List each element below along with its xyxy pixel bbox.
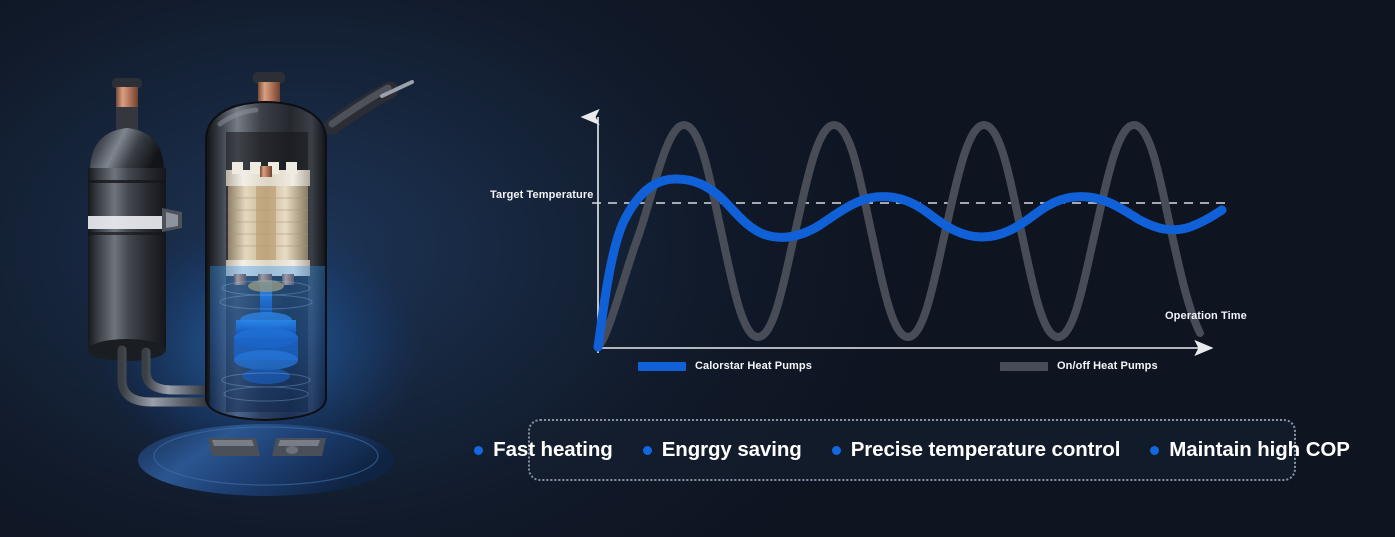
legend-swatch-calorstar — [638, 362, 686, 371]
accumulator-body — [88, 168, 166, 350]
compressor-illustration — [60, 20, 480, 510]
chart-legend: Calorstar Heat Pumps On/off Heat Pumps — [638, 360, 1238, 384]
accumulator-band-top — [88, 180, 166, 183]
feature-item-fast-heating: Fast heating — [474, 438, 613, 462]
feature-item-energy-saving: Engrgy saving — [643, 438, 802, 462]
accumulator-dome — [90, 128, 164, 172]
promo-banner: Target Temperature Operation Time Calors… — [0, 0, 1395, 537]
performance-chart: Target Temperature Operation Time — [470, 95, 1270, 395]
target-temperature-label: Target Temperature — [490, 189, 593, 201]
legend-label-onoff: On/off Heat Pumps — [1057, 360, 1158, 372]
feature-label-maintain-high-cop: Maintain high COP — [1169, 438, 1350, 462]
feature-label-precise-temperature-control: Precise temperature control — [851, 438, 1121, 462]
accumulator-band-bottom — [88, 232, 166, 235]
lower-blue-glow — [210, 266, 330, 418]
calorstar-heat-pumps-curve — [598, 179, 1222, 347]
legend-label-calorstar: Calorstar Heat Pumps — [695, 360, 812, 372]
feature-highlight-bar: Fast heating Engrgy saving Precise tempe… — [528, 419, 1296, 481]
accumulator-copper-tube — [116, 87, 138, 109]
discharge-pipe — [332, 82, 412, 126]
winding-center-band — [256, 186, 276, 260]
feature-item-precise-temperature-control: Precise temperature control — [832, 438, 1121, 462]
bullet-dot-icon — [1150, 446, 1159, 455]
legend-item-onoff: On/off Heat Pumps — [1000, 360, 1158, 372]
feature-label-energy-saving: Engrgy saving — [662, 438, 802, 462]
onoff-heat-pumps-curve — [598, 125, 1200, 347]
bullet-dot-icon — [643, 446, 652, 455]
legend-swatch-onoff — [1000, 362, 1048, 371]
compressor-product-image — [60, 20, 480, 510]
bracket-bolt — [286, 446, 298, 454]
accumulator-bottom — [88, 339, 166, 361]
legend-item-calorstar: Calorstar Heat Pumps — [638, 360, 812, 372]
bullet-dot-icon — [474, 446, 483, 455]
chart-svg — [470, 95, 1270, 395]
accumulator-label-band — [88, 216, 166, 229]
operation-time-label: Operation Time — [1165, 310, 1247, 322]
feature-item-maintain-high-cop: Maintain high COP — [1150, 438, 1350, 462]
bullet-dot-icon — [832, 446, 841, 455]
feature-label-fast-heating: Fast heating — [493, 438, 613, 462]
mounting-base — [138, 424, 394, 496]
